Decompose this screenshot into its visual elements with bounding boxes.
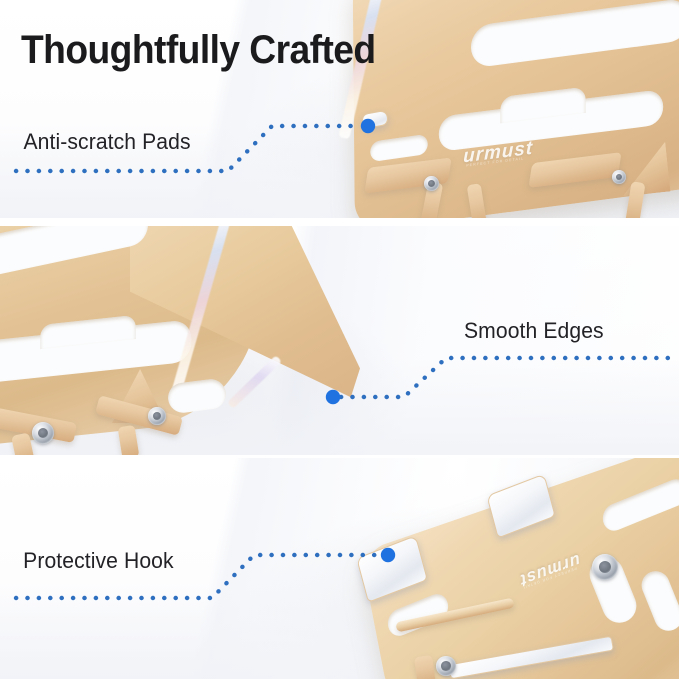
page-title: Thoughtfully Crafted: [21, 28, 376, 73]
callout-label-protective-hook: Protective Hook: [23, 548, 174, 574]
panel-divider-2: [0, 455, 679, 458]
background-floor: [0, 359, 679, 455]
product-infographic: urmust PERFECT FOR DETAIL Thoughtfully C…: [0, 0, 679, 679]
background-floor: [0, 586, 679, 679]
panel-protective-hook: urmust PERFECT FOR DETAIL Protective Hoo…: [0, 458, 679, 679]
panel-divider-1: [0, 218, 679, 226]
callout-label-smooth-edges: Smooth Edges: [464, 318, 604, 344]
panel-smooth-edges: Smooth Edges: [0, 226, 679, 455]
callout-label-anti-scratch-pads: Anti-scratch Pads: [23, 129, 190, 155]
panel-anti-scratch-pads: urmust PERFECT FOR DETAIL Thoughtfully C…: [0, 0, 679, 218]
